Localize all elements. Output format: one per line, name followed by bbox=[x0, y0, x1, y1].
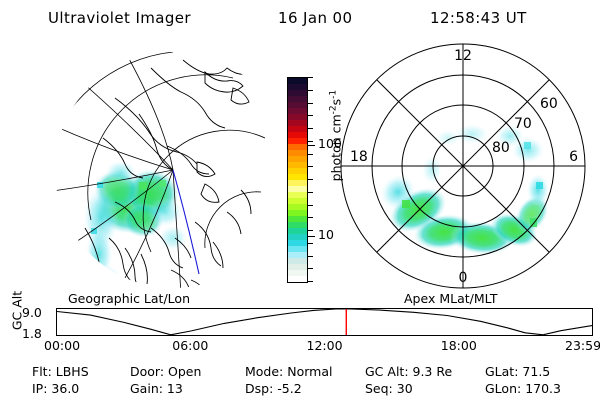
param-key: Dsp: bbox=[245, 381, 273, 396]
colorbar-minor-tick bbox=[308, 192, 313, 193]
orbit-ytick-low: 1.8 bbox=[22, 326, 42, 341]
geographic-panel-title: Geographic Lat/Lon bbox=[68, 291, 190, 306]
geographic-graticule bbox=[55, 42, 265, 290]
colorbar-gradient bbox=[287, 77, 308, 283]
param-value: 170.3 bbox=[521, 381, 561, 396]
apex-polar-projection: 12 18 6 0 60 70 80 bbox=[332, 42, 594, 290]
colorbar-minor-tick bbox=[308, 128, 313, 129]
param-key: Seq: bbox=[365, 381, 393, 396]
orbit-xtick-0600: 06:00 bbox=[172, 338, 208, 353]
param-flt: Flt: LBHS bbox=[32, 366, 89, 379]
colorbar-minor-tick bbox=[308, 230, 313, 231]
orbit-altitude-curve bbox=[57, 309, 592, 335]
param-glon: GLon: 170.3 bbox=[485, 383, 561, 396]
param-value: 30 bbox=[393, 381, 413, 396]
mlt-label-0: 0 bbox=[459, 270, 468, 286]
apex-polar-panel[interactable]: 12 18 6 0 60 70 80 bbox=[332, 42, 594, 290]
orbit-xtick-1200: 12:00 bbox=[307, 338, 343, 353]
mlt-label-18: 18 bbox=[350, 149, 368, 165]
colorbar-band-33 bbox=[288, 276, 307, 282]
colorbar-minor-tick bbox=[308, 154, 313, 155]
orbit-xtick-1800: 18:00 bbox=[441, 338, 477, 353]
param-value: 36.0 bbox=[47, 381, 79, 396]
orbit-xtick-0000: 00:00 bbox=[44, 338, 80, 353]
colorbar-minor-tick bbox=[308, 281, 313, 282]
colorbar-minor-tick bbox=[308, 217, 313, 218]
mlat-label-80: 80 bbox=[492, 140, 510, 156]
param-value: Normal bbox=[283, 364, 332, 379]
param-key: Mode: bbox=[245, 364, 283, 379]
param-key: IP: bbox=[32, 381, 47, 396]
mlt-label-6: 6 bbox=[569, 149, 578, 165]
mlt-spokes bbox=[341, 44, 585, 288]
aurora-emission-apex bbox=[374, 124, 555, 256]
colorbar-minor-tick bbox=[308, 90, 313, 91]
colorbar-major-tick-10 bbox=[308, 236, 315, 237]
param-key: GLat: bbox=[485, 364, 518, 379]
colorbar-minor-tick bbox=[308, 179, 313, 180]
colorbar-minor-tick bbox=[308, 256, 313, 257]
orbit-altitude-plot[interactable] bbox=[56, 308, 593, 336]
param-seq: Seq: 30 bbox=[365, 383, 413, 396]
param-key: Flt: bbox=[32, 364, 52, 379]
observation-time: 12:58:43 UT bbox=[430, 9, 527, 27]
geographic-image-panel[interactable] bbox=[55, 42, 265, 290]
colorbar-major-tick-100 bbox=[308, 145, 315, 146]
mlat-label-70: 70 bbox=[514, 116, 532, 132]
colorbar-minor-tick bbox=[308, 77, 313, 78]
param-value: 71.5 bbox=[518, 364, 550, 379]
observation-date: 16 Jan 00 bbox=[278, 9, 352, 27]
colorbar-minor-tick bbox=[308, 243, 313, 244]
param-glat: GLat: 71.5 bbox=[485, 366, 550, 379]
mlt-label-12: 12 bbox=[454, 48, 472, 64]
param-value: -5.2 bbox=[273, 381, 301, 396]
orbit-ytick-high: 9.0 bbox=[22, 305, 42, 320]
colorbar-minor-tick bbox=[308, 115, 313, 116]
param-dsp: Dsp: -5.2 bbox=[245, 383, 302, 396]
param-value: LBHS bbox=[52, 364, 89, 379]
param-gcalt: GC Alt: 9.3 Re bbox=[365, 366, 452, 379]
param-value: 13 bbox=[163, 381, 183, 396]
param-value: Open bbox=[164, 364, 201, 379]
header-bar: Ultraviolet Imager 16 Jan 00 12:58:43 UT bbox=[0, 4, 600, 28]
parameter-footer: Flt: LBHSDoor: OpenMode: NormalGC Alt: 9… bbox=[0, 362, 600, 400]
colorbar-minor-tick bbox=[308, 166, 313, 167]
mlat-label-60: 60 bbox=[540, 96, 558, 112]
param-key: GLon: bbox=[485, 381, 521, 396]
apex-panel-title: Apex MLat/MLT bbox=[404, 291, 498, 306]
colorbar-minor-tick bbox=[308, 103, 313, 104]
param-key: Gain: bbox=[130, 381, 163, 396]
param-door: Door: Open bbox=[130, 366, 201, 379]
colorbar-minor-tick bbox=[308, 205, 313, 206]
altitude-trace bbox=[57, 309, 592, 335]
colorbar-minor-tick bbox=[308, 141, 313, 142]
geographic-projection bbox=[55, 42, 265, 290]
param-key: Door: bbox=[130, 364, 164, 379]
param-ip: IP: 36.0 bbox=[32, 383, 79, 396]
param-key: GC Alt: bbox=[365, 364, 409, 379]
instrument-title: Ultraviolet Imager bbox=[48, 9, 191, 27]
param-gain: Gain: 13 bbox=[130, 383, 183, 396]
param-value: 9.3 Re bbox=[409, 364, 453, 379]
colorbar-minor-tick bbox=[308, 268, 313, 269]
param-mode: Mode: Normal bbox=[245, 366, 332, 379]
orbit-xtick-2359: 23:59 bbox=[565, 338, 600, 353]
